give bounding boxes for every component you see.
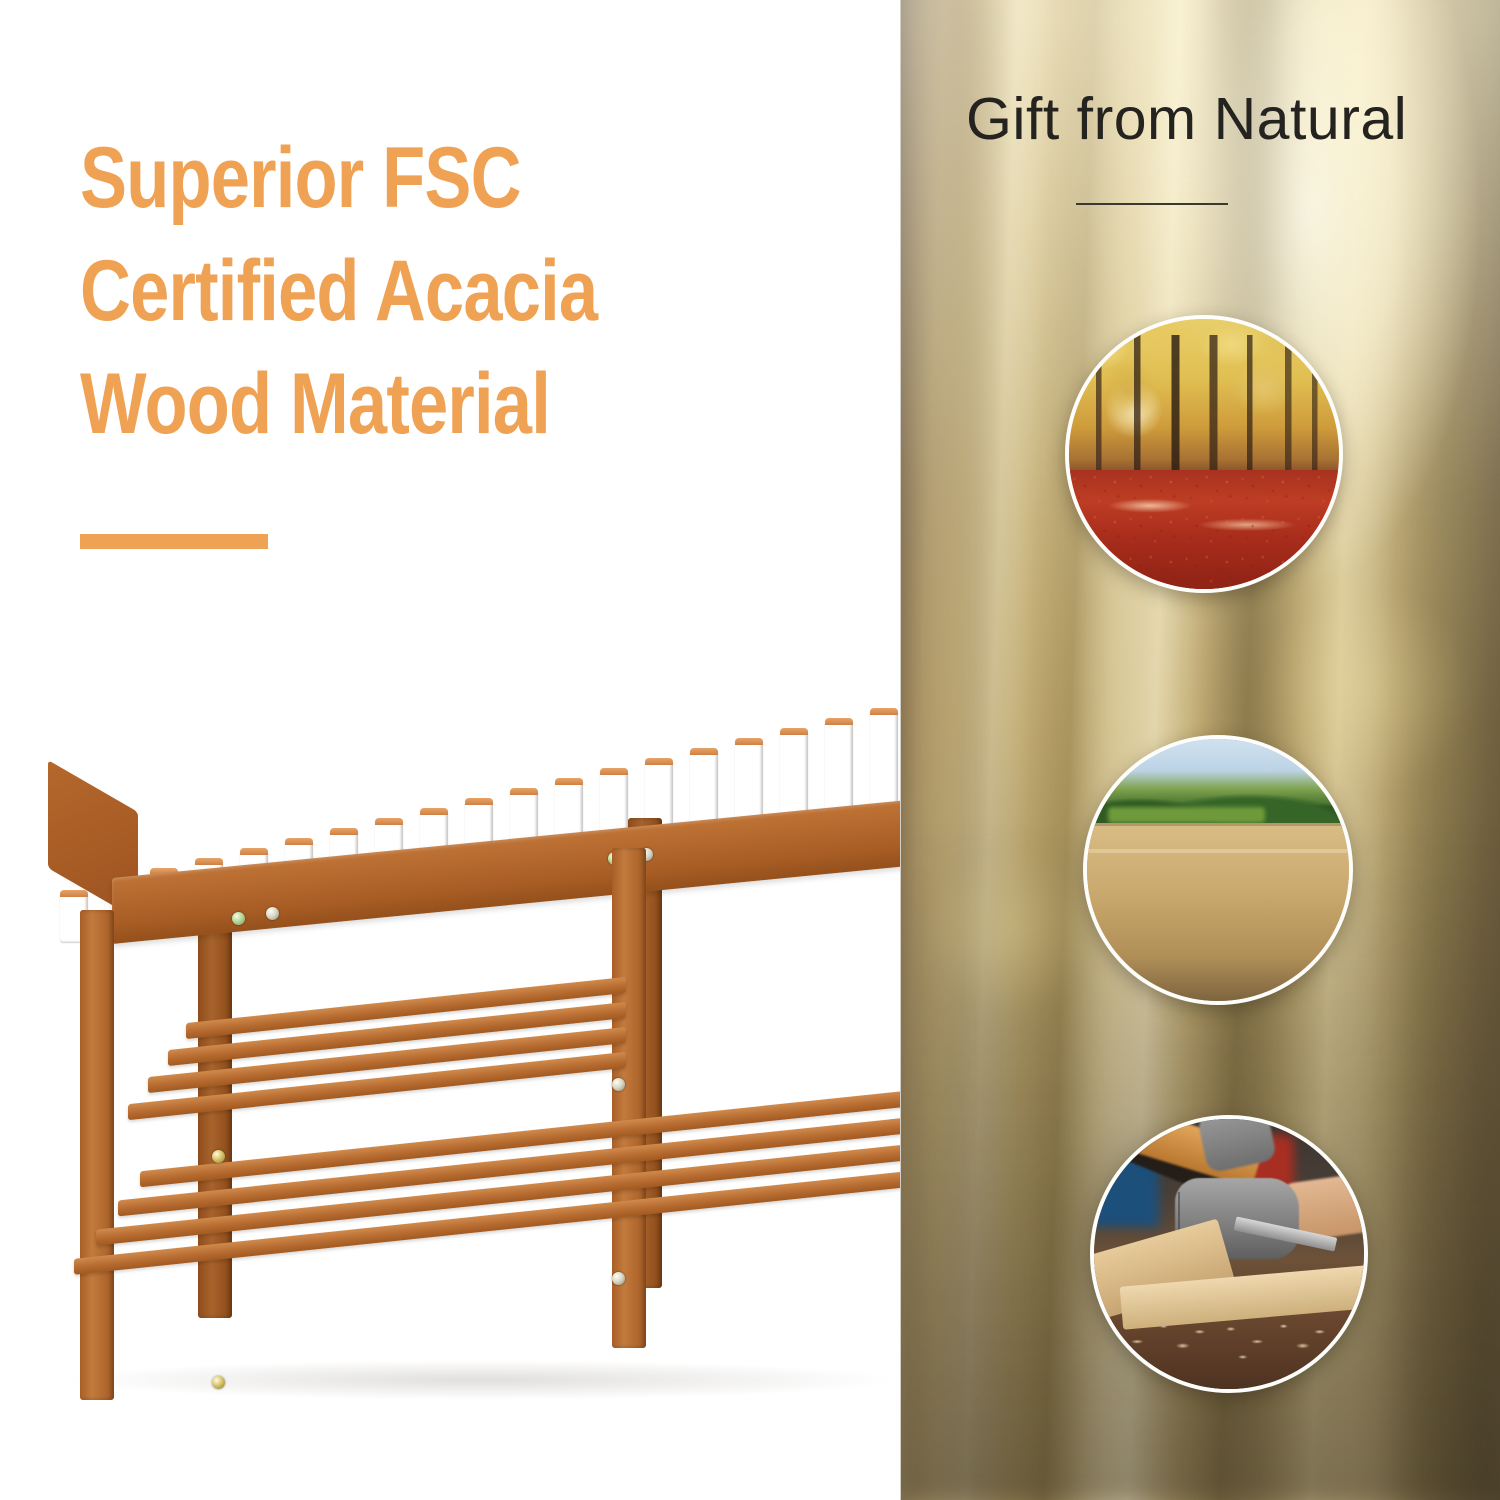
circle-photo-woodworking-craft: [1090, 1115, 1368, 1393]
panel-divider: [900, 0, 901, 1500]
leaf-texture-layer: [1069, 470, 1339, 589]
bench-bottom-shelf: [60, 1130, 930, 1250]
right-panel-title: Gift from Natural: [966, 86, 1486, 152]
product-marketing-banner: Superior FSC Certified Acacia Wood Mater…: [0, 0, 1500, 1500]
bench-screw: [612, 1272, 625, 1285]
right-lifestyle-panel: Gift from Natural: [900, 0, 1500, 1500]
circle-photo-autumn-forest: [1065, 315, 1343, 593]
headline-line-3: Wood Material: [80, 348, 703, 461]
bench-screw: [232, 912, 245, 925]
woodworking-image: [1094, 1119, 1364, 1389]
plank-texture-layer: [1083, 823, 1353, 1001]
lumber-stack-image: [1087, 739, 1349, 1001]
headline-line-1: Superior FSC: [80, 122, 703, 235]
bench-screw: [266, 907, 279, 920]
bench-screw: [612, 1078, 625, 1091]
bench-screw: [212, 1376, 225, 1389]
green-field-layer: [1108, 807, 1265, 823]
page-title: Superior FSC Certified Acacia Wood Mater…: [80, 122, 840, 461]
product-floor-shadow: [60, 1360, 900, 1400]
product-image-acacia-bench: [20, 700, 980, 1440]
bench-middle-shelf: [110, 1000, 630, 1110]
headline-line-2: Certified Acacia: [80, 235, 703, 348]
circle-photo-lumber-stack: [1083, 735, 1353, 1005]
headline-underline-rule: [80, 534, 268, 549]
autumn-forest-image: [1069, 319, 1339, 589]
left-content-panel: Superior FSC Certified Acacia Wood Mater…: [0, 0, 900, 1500]
forest-trunks-layer: [1069, 335, 1339, 486]
right-heading-underline-rule: [1076, 203, 1228, 205]
bench-screw: [212, 1150, 225, 1163]
